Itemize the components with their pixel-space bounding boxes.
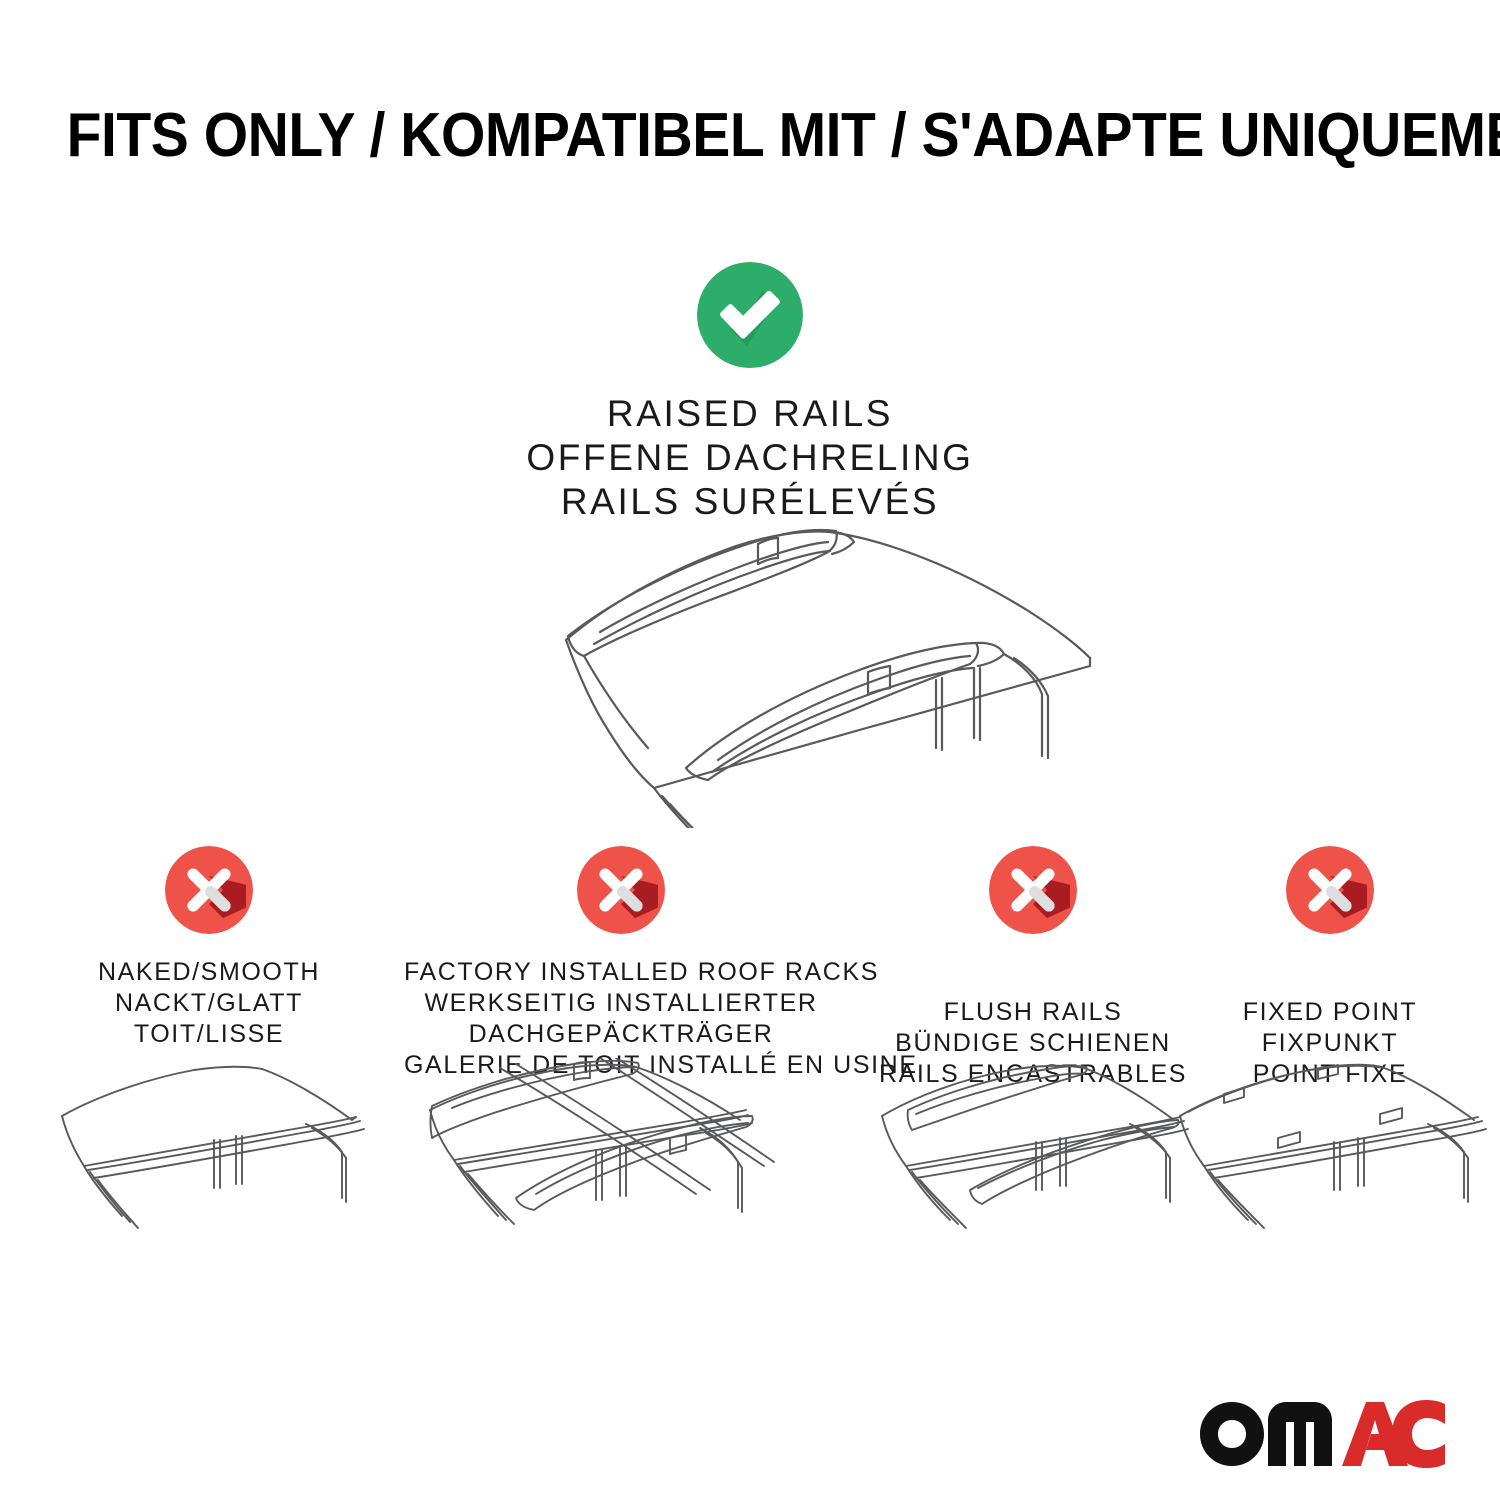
- car-roof-fixed-point-illustration: [1166, 1058, 1496, 1258]
- car-roof-raised-rails-illustration: [418, 508, 1118, 828]
- label-en: NAKED/SMOOTH: [44, 957, 374, 988]
- not-fits-section: NAKED/SMOOTH NACKT/GLATT TOIT/LISSE: [0, 846, 1500, 1346]
- page-title: FITS ONLY / KOMPATIBEL MIT / S'ADAPTE UN…: [67, 96, 1500, 176]
- fits-labels: RAISED RAILS OFFENE DACHRELING RAILS SUR…: [0, 392, 1500, 524]
- label-en: FACTORY INSTALLED ROOF RACKS: [404, 957, 838, 988]
- not-fits-item-fixed-point: FIXED POINT FIXPUNKT POINT FIXE: [1176, 846, 1484, 1090]
- not-fits-item-naked-smooth: NAKED/SMOOTH NACKT/GLATT TOIT/LISSE: [44, 846, 374, 1050]
- not-fits-labels-naked-smooth: NAKED/SMOOTH NACKT/GLATT TOIT/LISSE: [44, 957, 374, 1050]
- check-circle-icon: [697, 262, 803, 368]
- omac-logo: [1198, 1398, 1448, 1472]
- label-de-2: DACHGEPÄCKTRÄGER: [404, 1019, 838, 1050]
- label-fr: TOIT/LISSE: [44, 1019, 374, 1050]
- label-de-1: WERKSEITIG INSTALLIERTER: [404, 988, 838, 1019]
- not-fits-item-factory-roof-racks: FACTORY INSTALLED ROOF RACKS WERKSEITIG …: [404, 846, 838, 1081]
- header: FITS ONLY / KOMPATIBEL MIT / S'ADAPTE UN…: [0, 96, 1500, 176]
- not-fits-item-flush-rails: FLUSH RAILS BÜNDIGE SCHIENEN RAILS ENCAS…: [866, 846, 1200, 1090]
- cross-circle-icon: [165, 846, 253, 934]
- car-roof-factory-roof-racks-illustration: [404, 1058, 838, 1258]
- cross-circle-icon: [989, 846, 1077, 934]
- fits-label-de: OFFENE DACHRELING: [0, 436, 1500, 480]
- fits-section: RAISED RAILS OFFENE DACHRELING RAILS SUR…: [0, 262, 1500, 524]
- cross-circle-icon: [577, 846, 665, 934]
- car-roof-flush-rails-illustration: [866, 1058, 1200, 1258]
- cross-circle-icon: [1286, 846, 1374, 934]
- label-en: FIXED POINT: [1176, 997, 1484, 1028]
- label-de: FIXPUNKT: [1176, 1028, 1484, 1059]
- fits-label-en: RAISED RAILS: [0, 392, 1500, 436]
- car-roof-naked-smooth-illustration: [44, 1058, 374, 1258]
- label-en: FLUSH RAILS: [866, 997, 1200, 1028]
- label-de: NACKT/GLATT: [44, 988, 374, 1019]
- label-de: BÜNDIGE SCHIENEN: [866, 1028, 1200, 1059]
